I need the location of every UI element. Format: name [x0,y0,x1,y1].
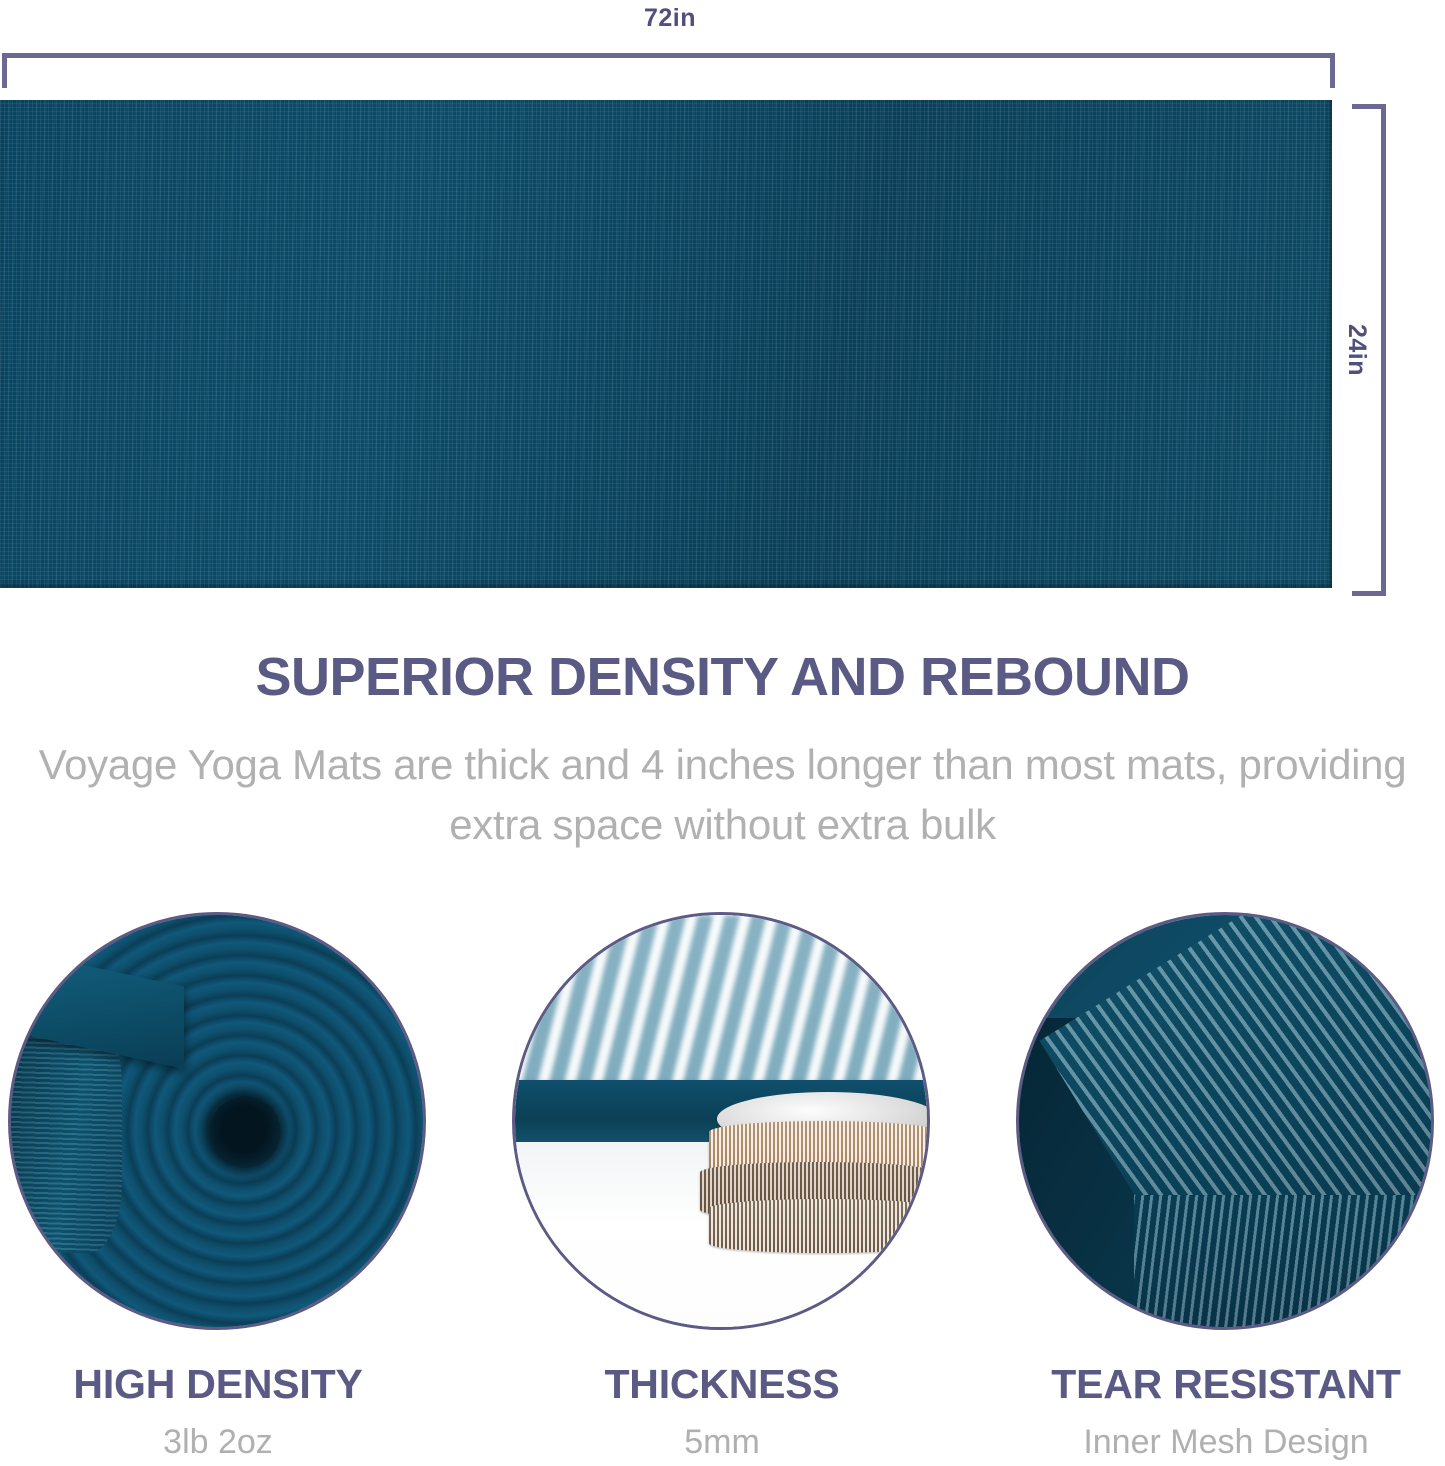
yoga-mat-hero-image [0,100,1332,588]
mat-surface-blurred [512,915,930,1088]
feature-title: HIGH DENSITY [8,1364,428,1405]
mat-roll-center-hole [209,1096,281,1168]
width-dimension-label: 72in [0,4,1340,33]
height-dimension-label: 24in [1328,104,1386,596]
mat-edge-with-coin-stack-photo [512,912,930,1330]
feature-item-high-density: HIGH DENSITY 3lb 2oz [8,912,428,1459]
feature-value: 5mm [512,1425,932,1459]
feature-title: TEAR RESISTANT [1016,1364,1436,1405]
feature-item-thickness: THICKNESS 5mm [512,912,932,1459]
folded-mat-texture-photo [1016,912,1434,1330]
rolled-yoga-mat-photo [8,912,426,1330]
coin-rim-3 [709,1199,930,1253]
feature-value: 3lb 2oz [8,1425,428,1459]
feature-item-tear-resistant: TEAR RESISTANT Inner Mesh Design [1016,912,1436,1459]
feature-list: HIGH DENSITY 3lb 2oz THICKNESS 5mm TEAR … [0,912,1445,1466]
feature-value: Inner Mesh Design [1016,1425,1436,1459]
page-title: SUPERIOR DENSITY AND REBOUND [0,646,1445,708]
feature-title: THICKNESS [512,1364,932,1405]
page-subtitle: Voyage Yoga Mats are thick and 4 inches … [22,735,1423,854]
width-dimension-bracket [2,53,1335,88]
